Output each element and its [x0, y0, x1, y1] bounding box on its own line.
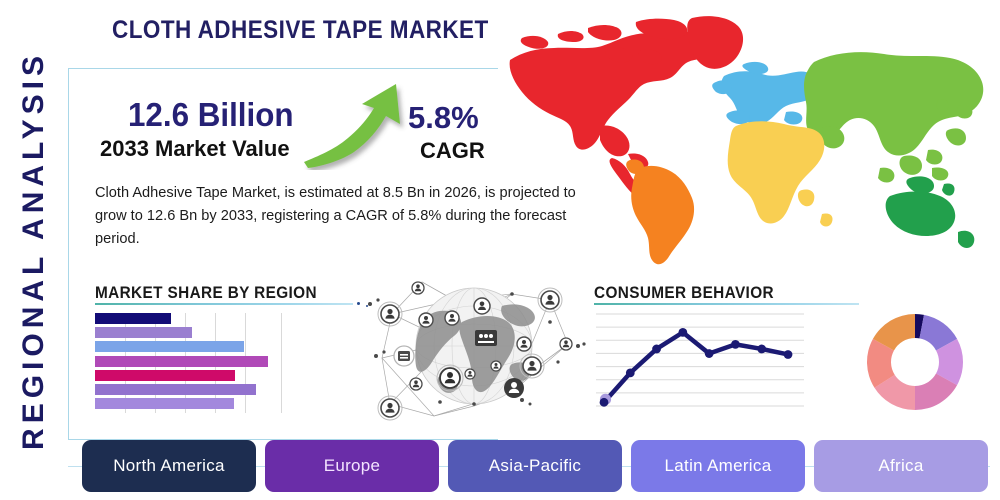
world-map-icon [492, 8, 1000, 270]
bar-row [95, 313, 171, 324]
bar-row [95, 398, 234, 409]
bar-segment [95, 356, 268, 367]
market-share-bar-chart [95, 313, 317, 413]
page-title: CLOTH ADHESIVE TAPE MARKET [112, 16, 489, 45]
bar-row [95, 384, 256, 395]
region-button-latin-america[interactable]: Latin America [631, 440, 805, 492]
side-label-text: REGIONAL ANALYSIS [17, 51, 51, 450]
line-data-point [678, 328, 687, 337]
region-button-group: North AmericaEuropeAsia-PacificLatin Ame… [82, 440, 988, 492]
rule-dot [357, 302, 360, 305]
cagr-label: CAGR [420, 138, 485, 164]
region-button-africa[interactable]: Africa [814, 440, 988, 492]
segment-donut-chart [862, 308, 968, 416]
bar-row [95, 370, 235, 381]
bar-segment [95, 384, 256, 395]
line-data-point [626, 368, 635, 377]
bar-row [95, 356, 268, 367]
region-button-north-america[interactable]: North America [82, 440, 256, 492]
market-value-label: 2033 Market Value [100, 136, 290, 162]
line-data-point [600, 398, 609, 407]
bar-segment [95, 370, 235, 381]
growth-arrow-icon [300, 78, 410, 170]
bar-segment [95, 398, 234, 409]
bar-row [95, 341, 244, 352]
market-share-section-title: MARKET SHARE BY REGION [95, 284, 317, 303]
market-value-number: 12.6 Billion [128, 96, 294, 134]
market-share-section-rule [95, 303, 353, 305]
line-data-point [731, 340, 740, 349]
bar-segment [95, 327, 192, 338]
global-network-icon [362, 266, 588, 428]
line-data-point [652, 345, 661, 354]
consumer-behavior-line-chart [596, 308, 804, 416]
bar-row [95, 327, 192, 338]
side-label: REGIONAL ANALYSIS [6, 0, 62, 500]
line-data-point [757, 345, 766, 354]
line-data-point [705, 349, 714, 358]
line-data-point [784, 350, 793, 359]
consumer-behavior-section-rule [594, 303, 859, 305]
consumer-behavior-section-title: CONSUMER BEHAVIOR [594, 284, 774, 303]
region-button-asia-pacific[interactable]: Asia-Pacific [448, 440, 622, 492]
bar-gridline [281, 313, 282, 413]
region-button-europe[interactable]: Europe [265, 440, 439, 492]
bar-segment [95, 313, 171, 324]
cagr-number: 5.8% [408, 100, 479, 136]
line-series-path [604, 332, 788, 402]
bar-segment [95, 341, 244, 352]
